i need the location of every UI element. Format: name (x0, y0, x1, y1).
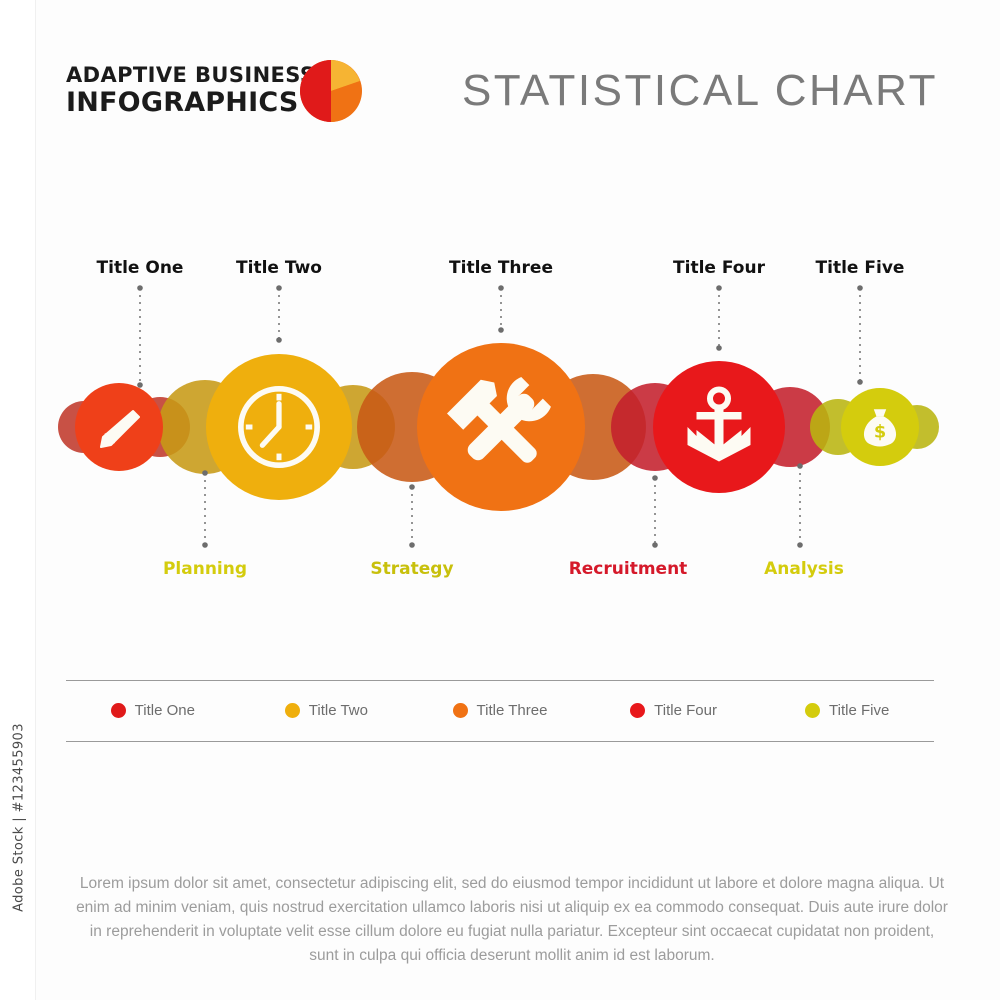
bubble-title-four[interactable] (653, 361, 785, 493)
bubble-title-one[interactable] (75, 383, 163, 471)
connector-endpoint-dot (409, 484, 415, 490)
connector-endpoint-dot (652, 475, 658, 481)
top-label-4: Title Four (673, 258, 765, 278)
halo-bubble (58, 401, 110, 453)
connector-endpoint-dot (857, 379, 863, 385)
connector-endpoint-dot (797, 463, 803, 469)
pie-chart-logo (300, 60, 362, 122)
brand-wordmark: ADAPTIVE BUSINESS INFOGRAPHICS (66, 62, 315, 118)
bubble-title-five[interactable] (841, 388, 919, 466)
connector-line-layer (137, 285, 863, 548)
halo-bubble (311, 385, 395, 469)
halo-bubble (540, 374, 646, 480)
svg-text:$: $ (874, 423, 886, 443)
legend-label: Title One (135, 702, 195, 719)
legend-label: Title Five (829, 702, 889, 719)
connector-endpoint-dot (857, 285, 863, 291)
page-title: STATISTICAL CHART (462, 66, 938, 116)
connector-endpoint-dot (652, 542, 658, 548)
connector-endpoint-dot (137, 382, 143, 388)
bottom-label-recruitment: Recruitment (569, 559, 688, 579)
bottom-label-strategy: Strategy (370, 559, 453, 579)
halo-bubble (750, 387, 830, 467)
connector-endpoint-dot (276, 337, 282, 343)
legend-item-1[interactable]: Title One (66, 702, 240, 719)
watermark-strip: Adobe Stock | #123455903 (0, 0, 36, 1000)
halo-bubble (357, 372, 467, 482)
bubble-title-two[interactable] (206, 354, 352, 500)
body-paragraph: Lorem ipsum dolor sit amet, consectetur … (76, 872, 948, 968)
connector-endpoint-dot (202, 542, 208, 548)
legend-item-3[interactable]: Title Three (413, 702, 587, 719)
money-bag-icon: $ (864, 409, 896, 446)
legend-item-5[interactable]: Title Five (760, 702, 934, 719)
legend-label: Title Two (309, 702, 368, 719)
halo-bubble (158, 380, 252, 474)
clock-icon (241, 389, 317, 465)
top-label-1: Title One (97, 258, 184, 278)
chart-legend: Title OneTitle TwoTitle ThreeTitle FourT… (66, 680, 934, 741)
legend-color-dot (453, 703, 468, 718)
bottom-label-analysis: Analysis (764, 559, 844, 579)
top-label-3: Title Three (449, 258, 553, 278)
brand-line-one: ADAPTIVE BUSINESS (66, 62, 315, 88)
connector-endpoint-dot (716, 345, 722, 351)
connector-endpoint-dot (202, 470, 208, 476)
legend-divider-bottom (66, 741, 934, 742)
bubble-title-three[interactable] (417, 343, 585, 511)
halo-bubble (130, 397, 190, 457)
bubble-chart-stage: $ (0, 0, 1000, 1000)
legend-color-dot (630, 703, 645, 718)
connector-endpoint-dot (409, 542, 415, 548)
bubble-chart-svg: $ (0, 0, 1000, 1000)
top-label-5: Title Five (816, 258, 905, 278)
anchor-icon (688, 390, 751, 462)
connector-endpoint-dot (276, 285, 282, 291)
halo-bubble-layer (58, 372, 939, 482)
legend-color-dot (111, 703, 126, 718)
pencil-icon (101, 411, 139, 447)
tools-icon (447, 374, 552, 479)
main-bubble-layer: $ (75, 343, 919, 511)
legend-item-4[interactable]: Title Four (587, 702, 761, 719)
connector-endpoint-dot (498, 285, 504, 291)
halo-bubble (810, 399, 866, 455)
watermark-label: Adobe Stock | #123455903 (12, 713, 27, 923)
legend-label: Title Four (654, 702, 717, 719)
halo-bubble (611, 383, 699, 471)
legend-item-2[interactable]: Title Two (240, 702, 414, 719)
connector-endpoint-dot (137, 285, 143, 291)
connector-endpoint-dot (716, 285, 722, 291)
brand-line-two: INFOGRAPHICS (66, 88, 315, 118)
halo-bubble (895, 405, 939, 449)
connector-endpoint-dot (498, 327, 504, 333)
top-label-2: Title Two (236, 258, 322, 278)
legend-color-dot (805, 703, 820, 718)
connector-endpoint-dot (797, 542, 803, 548)
legend-label: Title Three (477, 702, 548, 719)
infographic-page: Adobe Stock | #123455903 ADAPTIVE BUSINE… (0, 0, 1000, 1000)
bottom-label-planning: Planning (163, 559, 247, 579)
legend-color-dot (285, 703, 300, 718)
